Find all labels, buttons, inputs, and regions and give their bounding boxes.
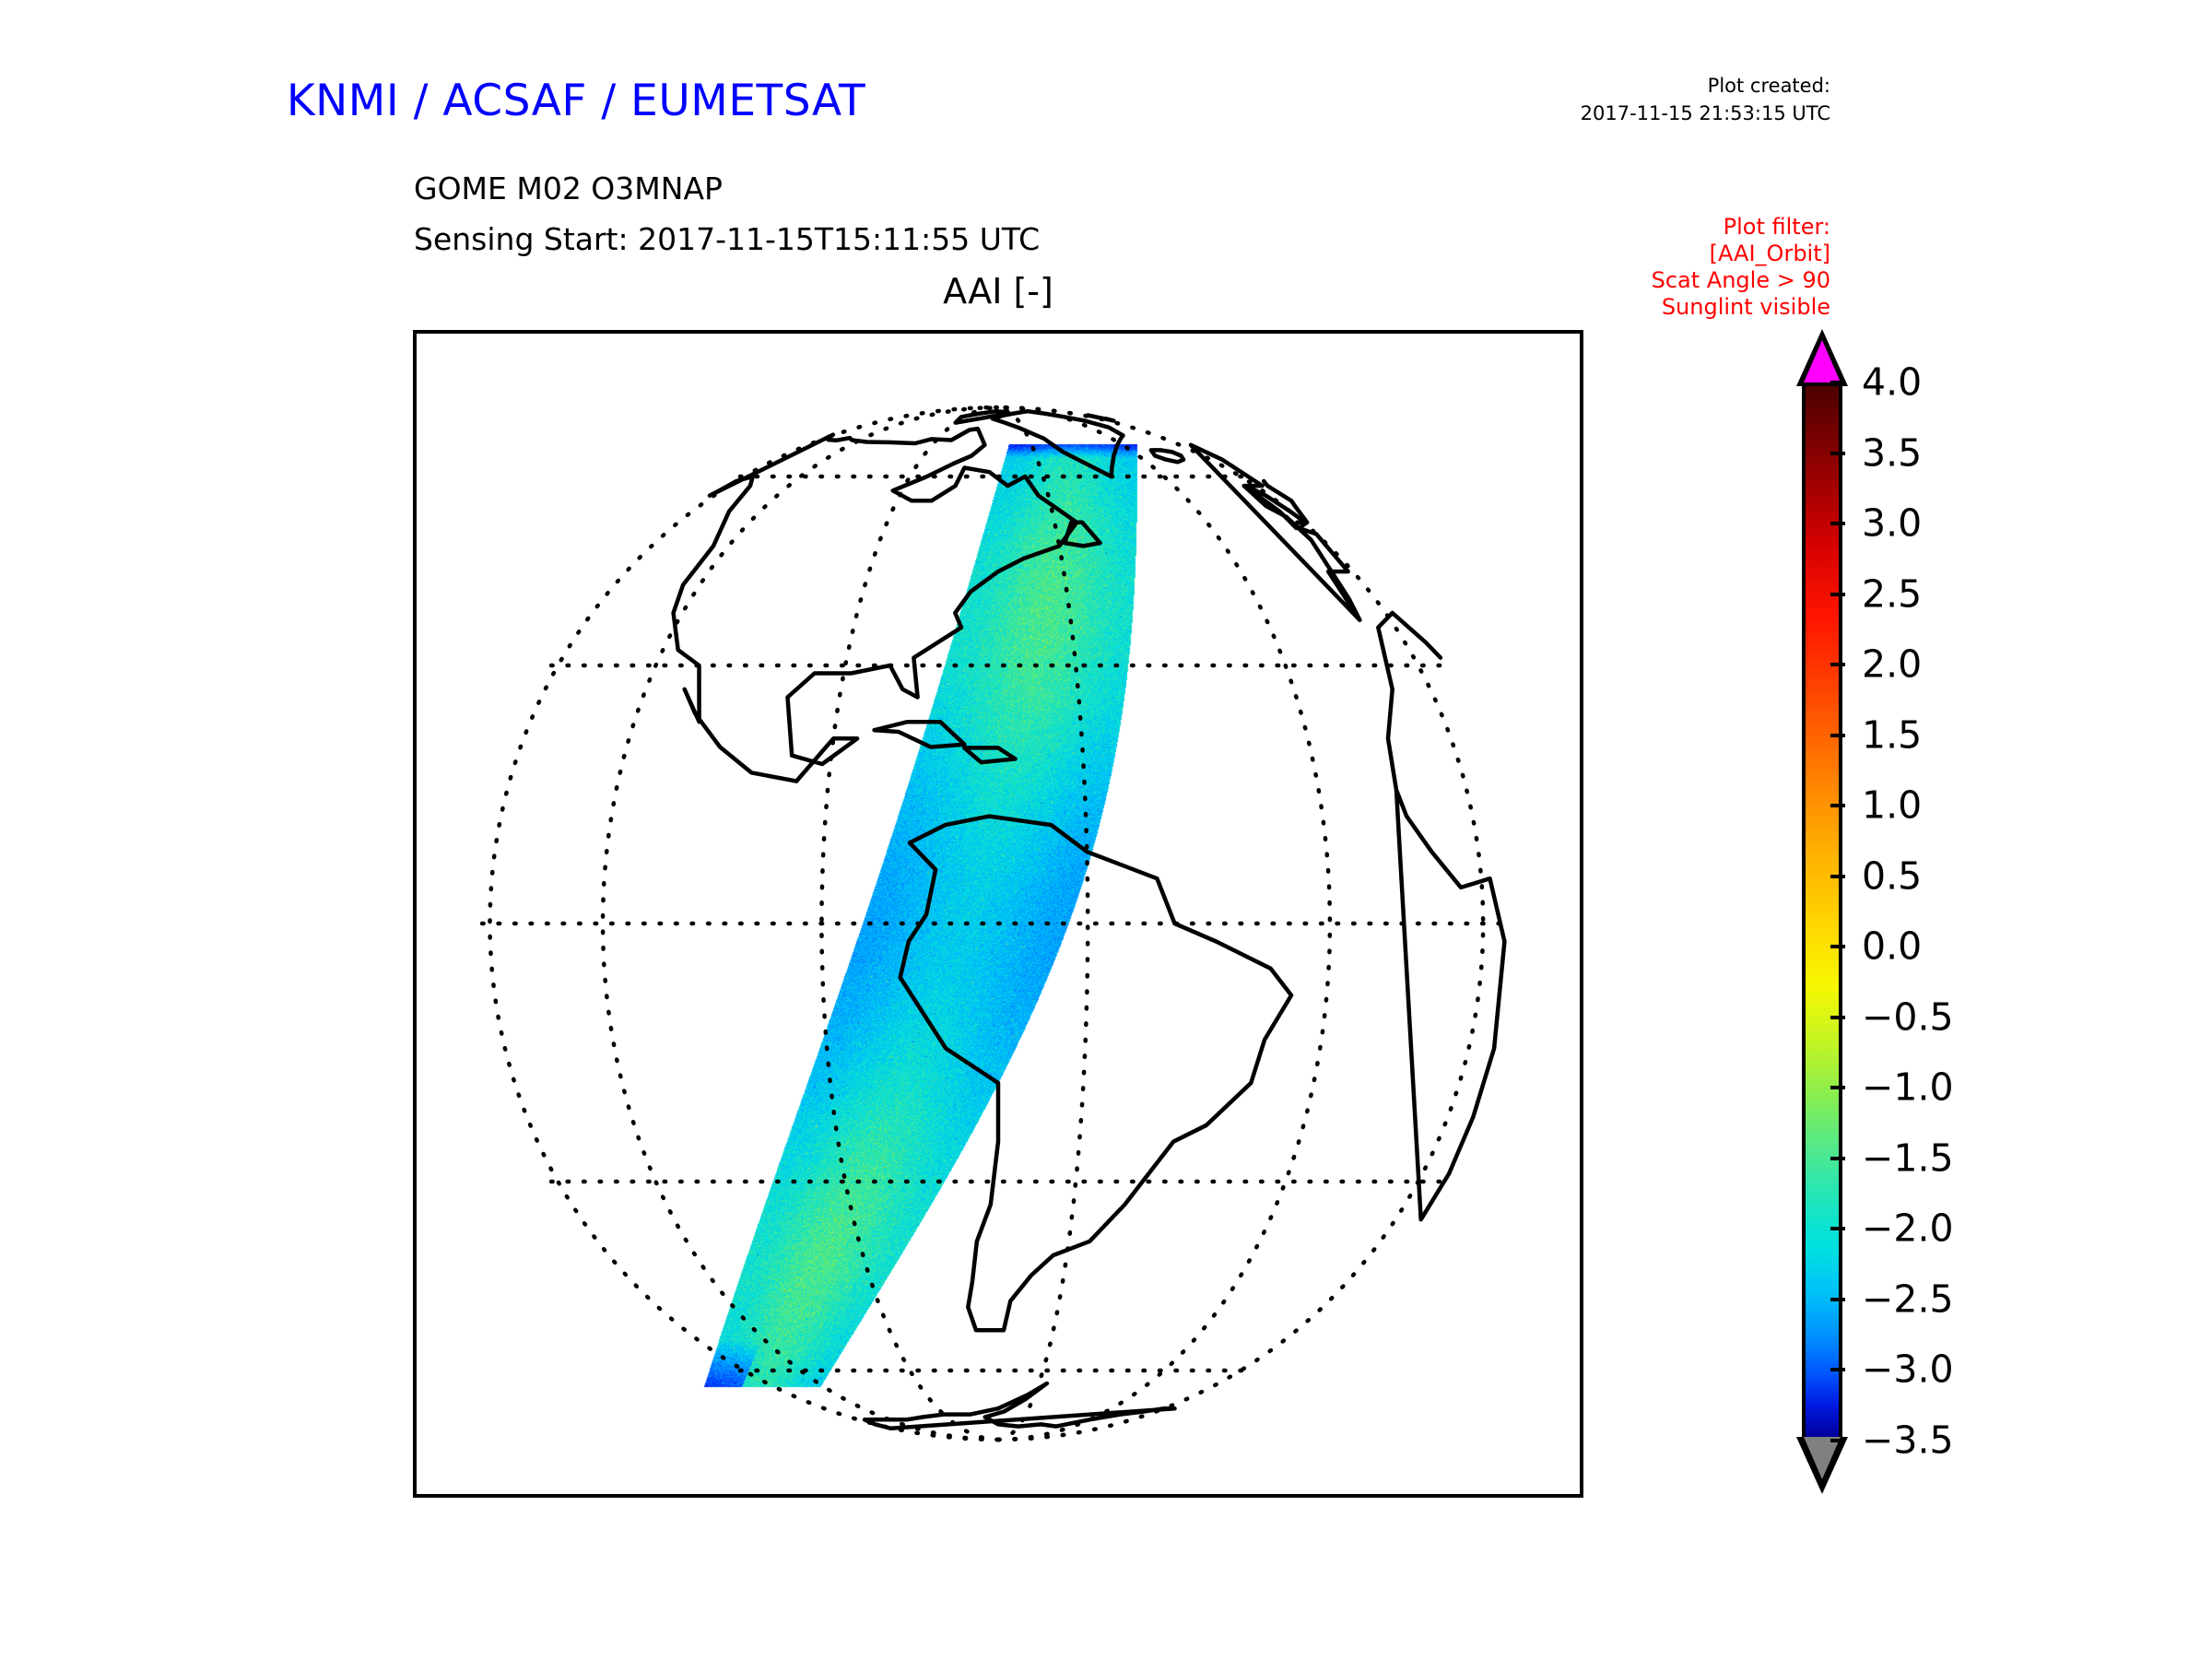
colorbar: 4.03.53.02.52.01.51.00.50.0−0.5−1.0−1.5−… <box>1795 327 2183 1500</box>
colorbar-tick-label: 3.0 <box>1862 505 1922 543</box>
graticule <box>482 407 1514 1440</box>
colorbar-tick <box>1830 1227 1845 1230</box>
plot-filter-scatangle: Scat Angle > 90 <box>1652 267 1830 294</box>
plot-created-label: Plot created: <box>1581 72 1830 100</box>
product-name: GOME M02 O3MNAP <box>414 171 723 206</box>
colorbar-tick-label: 1.5 <box>1862 716 1922 754</box>
colorbar-tick <box>1830 1086 1845 1089</box>
colorbar-tick <box>1830 1298 1845 1301</box>
organization-title: KNMI / ACSAF / EUMETSAT <box>0 76 1152 126</box>
map-canvas <box>417 334 1580 1494</box>
colorbar-tick-label: −0.5 <box>1862 998 1954 1036</box>
colorbar-tick <box>1830 945 1845 948</box>
plot-filter-orbit: [AAI_Orbit] <box>1652 241 1830 267</box>
colorbar-tick-label: 4.0 <box>1862 364 1922 402</box>
plot-filter-block: Plot filter: [AAI_Orbit] Scat Angle > 90… <box>1652 214 1830 321</box>
plot-filter-label: Plot filter: <box>1652 214 1830 241</box>
colorbar-gradient <box>1802 382 1842 1441</box>
colorbar-tick <box>1830 1368 1845 1371</box>
colorbar-tick-label: 0.0 <box>1862 928 1922 966</box>
colorbar-tick <box>1830 452 1845 455</box>
colorbar-tick-label: −3.0 <box>1862 1351 1954 1389</box>
map-plot-area <box>413 330 1583 1498</box>
colorbar-tick <box>1830 1157 1845 1160</box>
colorbar-tick <box>1830 381 1845 384</box>
colorbar-over-color <box>1804 340 1841 382</box>
colorbar-tick <box>1830 1439 1845 1442</box>
plot-created-value: 2017-11-15 21:53:15 UTC <box>1581 100 1830 127</box>
colorbar-tick-label: −1.0 <box>1862 1069 1954 1107</box>
colorbar-tick-label: 2.5 <box>1862 575 1922 613</box>
colorbar-tick-label: −2.5 <box>1862 1280 1954 1318</box>
colorbar-tick-label: 3.5 <box>1862 434 1922 472</box>
geography-layer <box>417 334 1580 1494</box>
colorbar-tick-label: 2.0 <box>1862 646 1922 684</box>
colorbar-tick-label: −2.0 <box>1862 1210 1954 1248</box>
colorbar-tick <box>1830 734 1845 737</box>
colorbar-tick-label: −1.5 <box>1862 1139 1954 1177</box>
colorbar-tick-label: 1.0 <box>1862 787 1922 825</box>
colorbar-under-color <box>1804 1437 1841 1479</box>
colorbar-tick-label: 0.5 <box>1862 857 1922 895</box>
colorbar-tick <box>1830 522 1845 525</box>
plot-filter-sunglint: Sunglint visible <box>1652 294 1830 321</box>
colorbar-tick <box>1830 875 1845 878</box>
sensing-start: Sensing Start: 2017-11-15T15:11:55 UTC <box>414 221 1040 257</box>
plot-created-block: Plot created: 2017-11-15 21:53:15 UTC <box>1581 72 1830 127</box>
colorbar-tick <box>1830 804 1845 807</box>
colorbar-tick <box>1830 593 1845 596</box>
coastlines <box>674 411 1505 1429</box>
colorbar-tick-label: −3.5 <box>1862 1422 1954 1460</box>
colorbar-tick <box>1830 663 1845 666</box>
colorbar-tick <box>1830 1016 1845 1019</box>
plot-title: AAI [-] <box>413 271 1583 312</box>
